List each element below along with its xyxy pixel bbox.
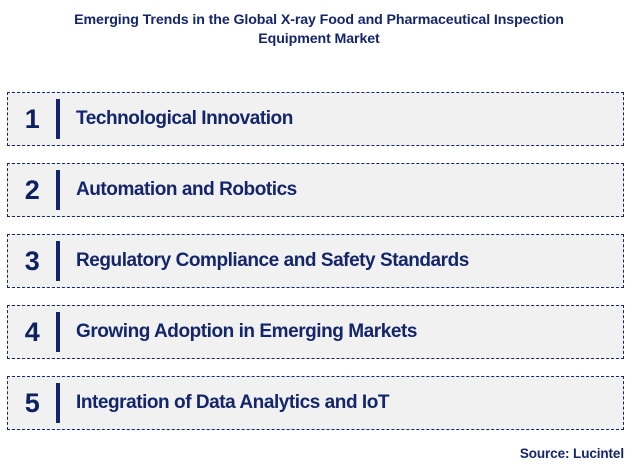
trend-list: 1 Technological Innovation 2 Automation … — [7, 92, 624, 430]
trend-label: Technological Innovation — [60, 108, 623, 130]
trend-label: Growing Adoption in Emerging Markets — [60, 321, 623, 343]
list-item[interactable]: 5 Integration of Data Analytics and IoT — [7, 376, 624, 430]
trend-label: Integration of Data Analytics and IoT — [60, 392, 623, 414]
trend-number: 2 — [8, 177, 56, 204]
list-item[interactable]: 4 Growing Adoption in Emerging Markets — [7, 305, 624, 359]
trend-label: Automation and Robotics — [60, 179, 623, 201]
trend-number: 4 — [8, 319, 56, 346]
emerging-trends-infographic: Emerging Trends in the Global X-ray Food… — [0, 0, 638, 471]
trend-number: 3 — [8, 248, 56, 275]
list-item[interactable]: 2 Automation and Robotics — [7, 163, 624, 217]
page-title: Emerging Trends in the Global X-ray Food… — [40, 11, 598, 49]
list-item[interactable]: 3 Regulatory Compliance and Safety Stand… — [7, 234, 624, 288]
trend-number: 1 — [8, 106, 56, 133]
list-item[interactable]: 1 Technological Innovation — [7, 92, 624, 146]
source-attribution: Source: Lucintel — [520, 446, 624, 461]
trend-label: Regulatory Compliance and Safety Standar… — [60, 250, 623, 272]
trend-number: 5 — [8, 390, 56, 417]
